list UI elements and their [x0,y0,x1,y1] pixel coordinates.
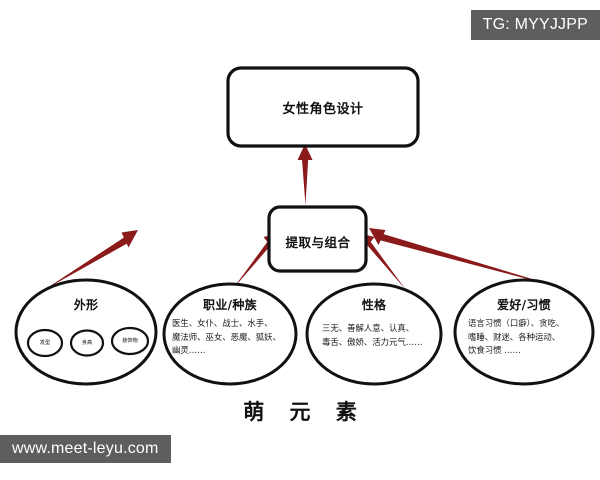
group-body-line: 魔法师、巫女、恶魔、狐妖、 [172,331,297,345]
diagram-caption: 萌 元 素 [0,396,600,426]
watermark-top-right: TG: MYYJJPP [471,10,600,40]
group-title-3: 性格 [309,296,439,313]
group-body-2: 医生、女仆、战士、水手、 魔法师、巫女、恶魔、狐妖、 幽灵…… [172,317,297,358]
sub-item-label-1-1: 发型 [30,341,60,346]
group-body-4: 语言习惯（口癖）、贪吃、 嗜睡、财迷、各种运动、 饮食习惯 …… [468,317,593,358]
group-title-1: 外形 [16,296,156,313]
group-body-line: 毒舌、傲娇、活力元气…… [322,336,437,350]
top-box-label: 女性角色设计 [228,98,418,117]
arrow-middle-to-top [298,144,313,205]
middle-box-label: 提取与组合 [268,232,368,251]
sub-item-label-1-2: 身高 [72,341,102,346]
sub-item-label-1-3: 装饰物 [113,339,147,344]
group-body-3: 三无、善解人意、认真、 毒舌、傲娇、活力元气…… [322,322,437,349]
diagram-canvas: 女性角色设计 提取与组合 外形 发型 身高 装饰物 职业/种族 医生、女仆、战士… [0,0,600,480]
group-body-line: 语言习惯（口癖）、贪吃、 [468,317,593,331]
group-body-line: 饮食习惯 …… [468,344,593,358]
group-body-line: 三无、善解人意、认真、 [322,322,437,336]
group-body-line: 幽灵…… [172,344,297,358]
group-body-line: 嗜睡、财迷、各种运动、 [468,331,593,345]
watermark-bottom-left: www.meet-leyu.com [0,435,171,463]
group-title-2: 职业/种族 [165,296,295,313]
group-title-4: 爱好/习惯 [455,296,593,313]
group-body-line: 医生、女仆、战士、水手、 [172,317,297,331]
